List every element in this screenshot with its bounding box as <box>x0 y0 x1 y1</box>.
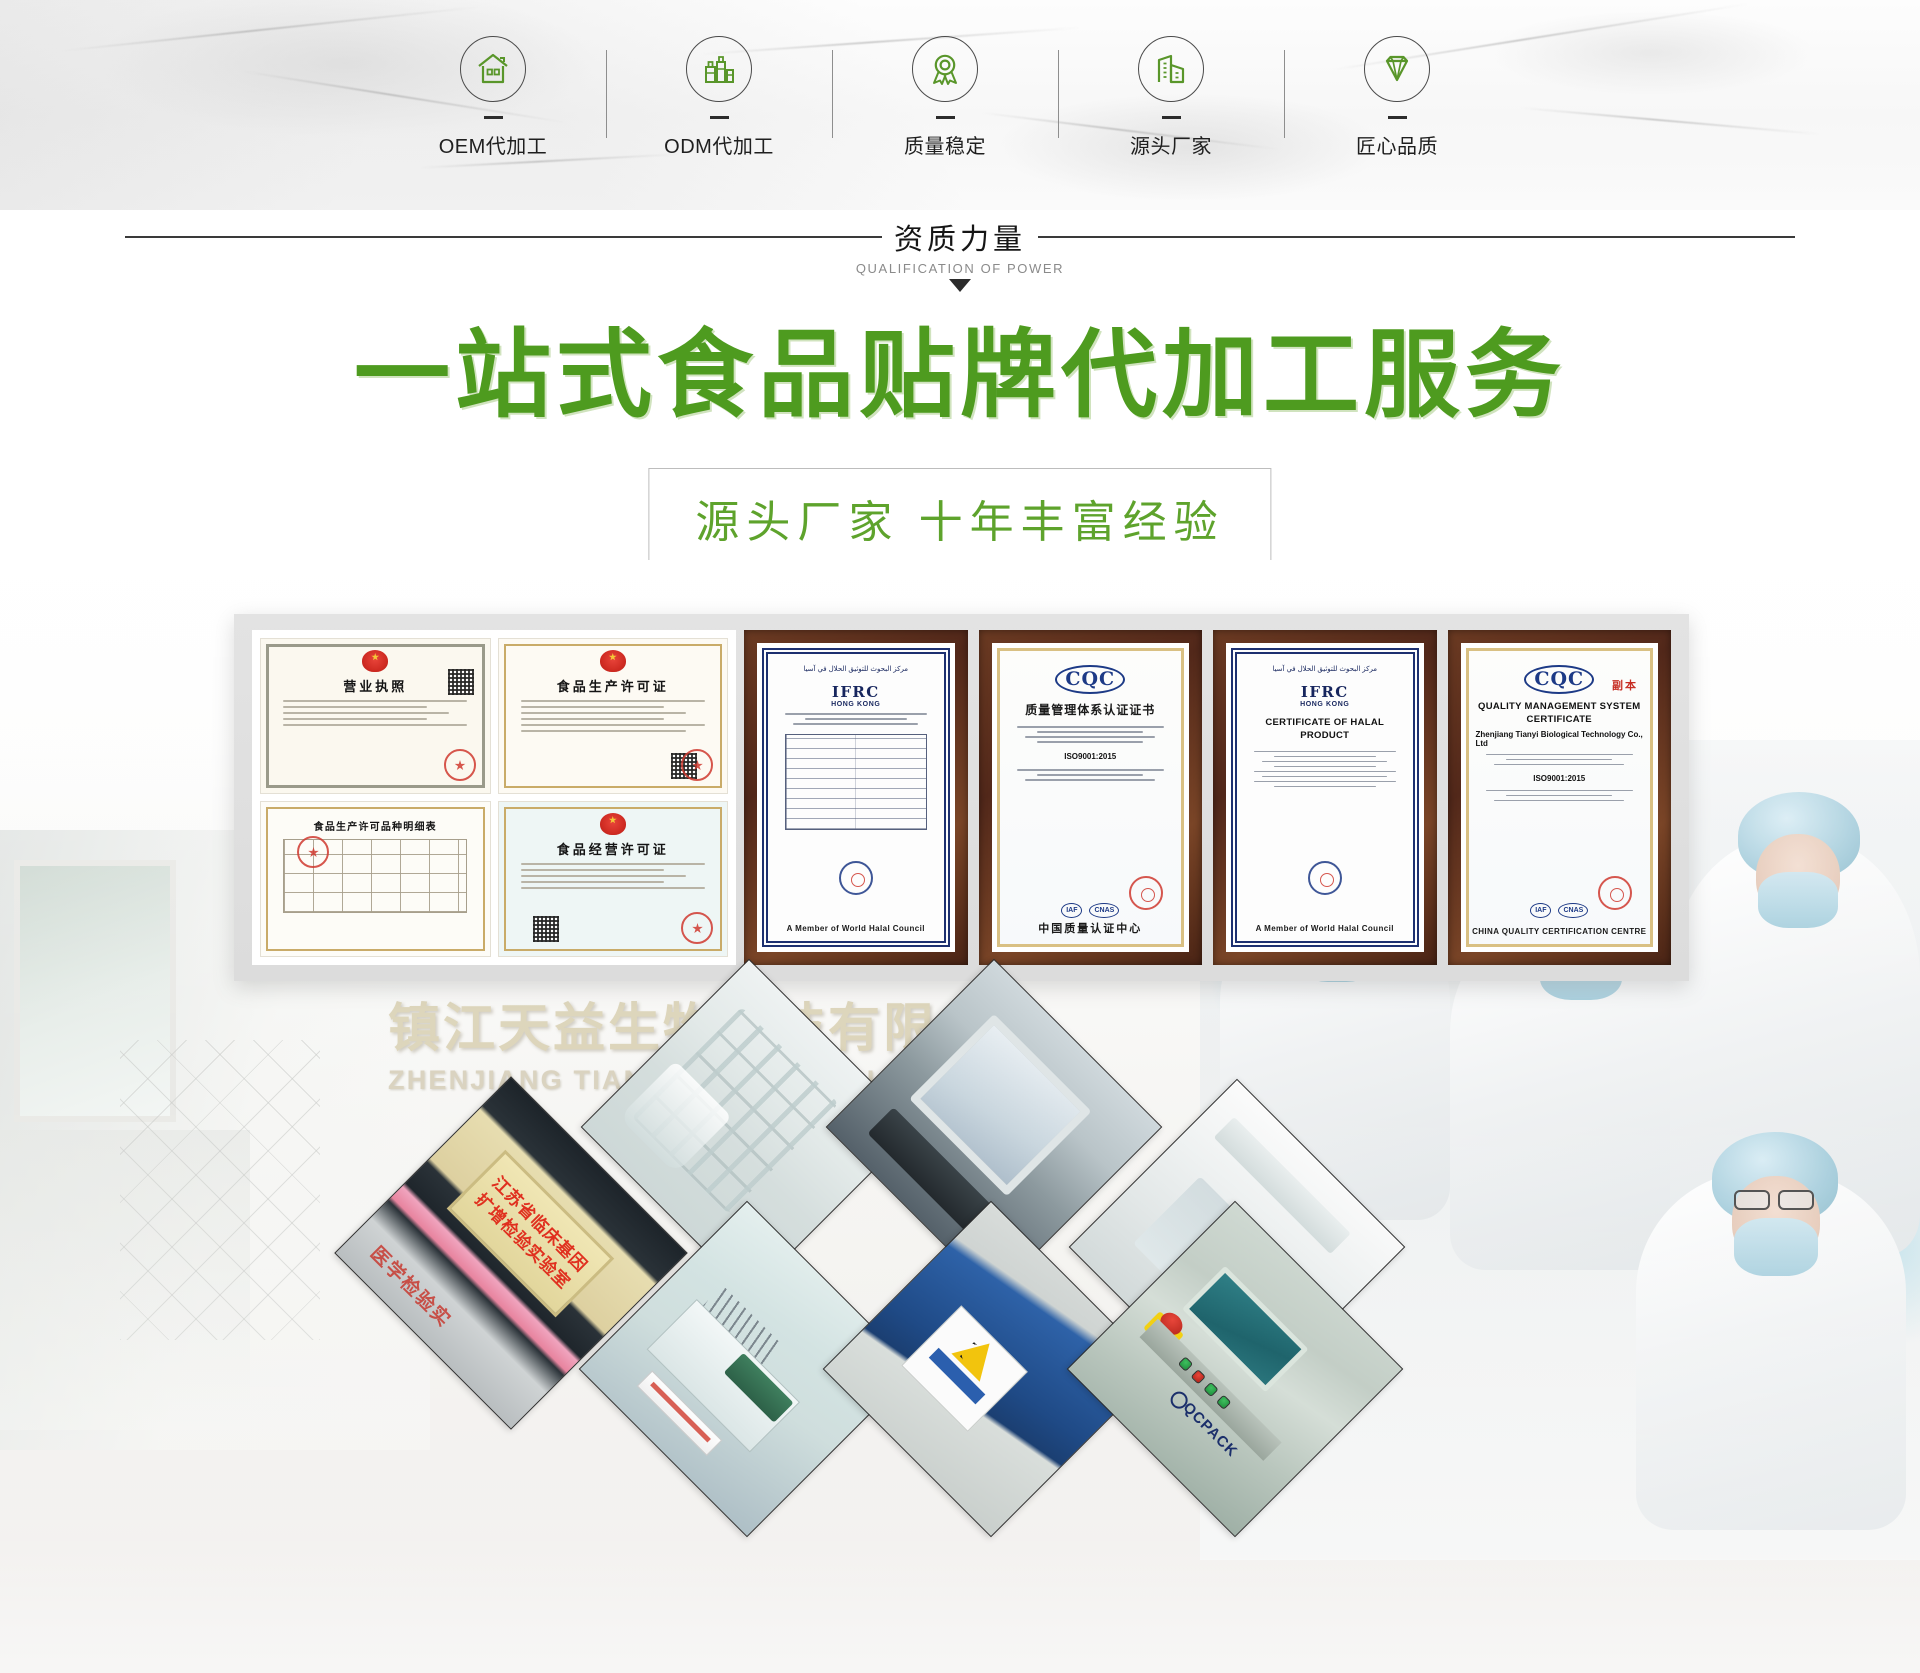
red-seal-stamp <box>681 749 713 781</box>
cqc-logo: CQC <box>1524 665 1594 694</box>
feature-icon-circle <box>1364 36 1430 102</box>
certificate-banner: 营业执照 食品生产许可证 <box>234 614 1689 981</box>
certificate-text-lines-2 <box>1486 790 1633 805</box>
machine-button <box>1203 1382 1219 1398</box>
feature-item-oem[interactable]: OEM代加工 <box>380 36 606 159</box>
certificate-paper: مركز البحوث للتوثيق الحلال في آسيا IFRC … <box>762 648 950 947</box>
feature-item-factory[interactable]: 源头厂家 <box>1058 36 1284 159</box>
framed-certificate-ifrc-halal-product[interactable]: مركز البحوث للتوثيق الحلال في آسيا IFRC … <box>1213 630 1437 965</box>
feature-icon-circle <box>460 36 526 102</box>
qr-code-icon <box>533 916 559 942</box>
feature-divider-dash <box>1162 116 1181 119</box>
ifrc-logo-sub: HONG KONG <box>831 701 880 708</box>
certificate-paper: CQC 质量管理体系认证证书 ISO9001:2015 IAF CNAS <box>997 648 1185 947</box>
certificate-paper: مركز البحوث للتوثيق الحلال في آسيا IFRC … <box>1231 648 1419 947</box>
section-title-en: QUALIFICATION OF POWER <box>856 261 1064 276</box>
feature-highlights: OEM代加工 ODM代加工 <box>380 36 1510 176</box>
arabic-heading: مركز البحوث للتوثيق الحلال في آسيا <box>803 665 908 673</box>
certificate-footer: 中国质量认证中心 <box>1000 920 1182 936</box>
arabic-heading: مركز البحوث للتوثيق الحلال في آسيا <box>1272 665 1377 673</box>
red-seal-stamp <box>444 749 476 781</box>
certificate-footer: A Member of World Halal Council <box>1237 924 1413 933</box>
feature-item-quality[interactable]: 质量稳定 <box>832 36 1058 159</box>
framed-certificate-cqc-cn[interactable]: CQC 质量管理体系认证证书 ISO9001:2015 IAF CNAS <box>979 630 1203 965</box>
feature-icon-circle <box>686 36 752 102</box>
feature-divider-dash <box>484 116 503 119</box>
red-seal-stamp <box>1598 876 1632 910</box>
frame-mat: مركز البحوث للتوثيق الحلال في آسيا IFRC … <box>1226 643 1424 952</box>
document-text-lines <box>283 700 467 730</box>
paper-certificates-group: 营业执照 食品生产许可证 <box>252 630 736 965</box>
red-seal-stamp <box>297 836 329 868</box>
blue-seal-stamp <box>1308 861 1342 895</box>
photo-mosaic: 江苏省临床基因 扩增检验实验室 医学检验实 <box>0 1000 1920 1673</box>
national-emblem-icon <box>600 810 626 836</box>
machine-button <box>1178 1357 1194 1373</box>
framed-certificates-group: مركز البحوث للتوثيق الحلال في آسيا IFRC … <box>744 630 1671 965</box>
feature-icon-circle <box>912 36 978 102</box>
document-title: 食品生产许可品种明细表 <box>314 818 437 833</box>
factory-building-icon <box>1153 51 1189 87</box>
copy-label-cn: 副本 <box>1612 677 1638 693</box>
award-ribbon-icon <box>927 51 963 87</box>
certificate-text-lines-2 <box>1017 769 1164 784</box>
certificate-title-en: CERTIFICATE OF HALAL PRODUCT <box>1244 717 1406 743</box>
product-name-table <box>785 734 927 830</box>
heading-rule-right <box>1038 236 1795 238</box>
certificate-production-category-table[interactable]: 食品生产许可品种明细表 <box>260 801 491 957</box>
machine-button <box>1216 1395 1232 1411</box>
document-text-lines <box>521 863 705 893</box>
feature-divider-dash <box>1388 116 1407 119</box>
feature-label: ODM代加工 <box>664 130 774 159</box>
section-heading-row: 资质力量 <box>0 216 1920 258</box>
feature-icon-circle <box>1138 36 1204 102</box>
certificate-food-production-license[interactable]: 食品生产许可证 <box>498 638 729 794</box>
red-seal-stamp <box>681 912 713 944</box>
national-emblem-icon <box>362 647 388 673</box>
certificate-title-en: QUALITY MANAGEMENT SYSTEM CERTIFICATE <box>1476 701 1644 727</box>
certificate-standard: ISO9001:2015 <box>1064 752 1116 761</box>
document-title: 食品生产许可证 <box>557 676 669 695</box>
certificate-text-lines <box>1486 754 1633 769</box>
national-emblem-icon <box>600 647 626 673</box>
red-seal-stamp <box>1129 876 1163 910</box>
caret-down-icon <box>949 279 971 292</box>
framed-certificate-cqc-en[interactable]: 副本 CQC QUALITY MANAGEMENT SYSTEM CERTIFI… <box>1448 630 1672 965</box>
certificate-title-cn: 质量管理体系认证证书 <box>1025 701 1155 718</box>
frame-mat: 副本 CQC QUALITY MANAGEMENT SYSTEM CERTIFI… <box>1461 643 1659 952</box>
hero-headline: 一站式食品贴牌代加工服务 <box>0 324 1920 428</box>
certificate-standard: ISO9001:2015 <box>1533 774 1585 783</box>
diamond-icon <box>1379 51 1415 87</box>
certificate-food-operation-license[interactable]: 食品经营许可证 <box>498 801 729 957</box>
cqc-logo: CQC <box>1055 665 1125 694</box>
heading-rule-left <box>125 236 882 238</box>
certificate-text-lines <box>1254 751 1396 791</box>
page-root: OEM代加工 ODM代加工 <box>0 0 1920 1673</box>
warning-sign <box>901 1306 1028 1433</box>
hero-subtitle: 源头厂家 十年丰富经验 <box>695 486 1224 550</box>
iaf-logo: IAF <box>1530 903 1551 918</box>
feature-label: 匠心品质 <box>1356 130 1438 159</box>
qr-code-icon <box>448 669 474 695</box>
document-text-lines <box>521 700 705 736</box>
feature-item-craftsmanship[interactable]: 匠心品质 <box>1284 36 1510 159</box>
certificate-footer: A Member of World Halal Council <box>768 924 944 933</box>
certificate-paper: 副本 CQC QUALITY MANAGEMENT SYSTEM CERTIFI… <box>1466 648 1654 947</box>
feature-divider-dash <box>710 116 729 119</box>
document-title: 营业执照 <box>343 676 407 695</box>
section-title-cn: 资质力量 <box>882 216 1038 258</box>
certificate-business-license[interactable]: 营业执照 <box>260 638 491 794</box>
cnas-logo: CNAS <box>1558 903 1588 918</box>
plaque-text-card: 江苏省临床基因 扩增检验实验室 <box>447 1150 615 1318</box>
iaf-logo: IAF <box>1061 903 1082 918</box>
ifrc-logo-sub: HONG KONG <box>1300 701 1349 708</box>
feature-label: 质量稳定 <box>904 130 986 159</box>
certificate-text-lines <box>1017 726 1164 746</box>
machine-button <box>1190 1369 1206 1385</box>
ifrc-logo: IFRC <box>1301 683 1349 701</box>
feature-item-odm[interactable]: ODM代加工 <box>606 36 832 159</box>
frame-mat: مركز البحوث للتوثيق الحلال في آسيا IFRC … <box>757 643 955 952</box>
framed-certificate-ifrc-halal[interactable]: مركز البحوث للتوثيق الحلال في آسيا IFRC … <box>744 630 968 965</box>
blue-seal-stamp <box>839 861 873 895</box>
feature-label: 源头厂家 <box>1130 130 1212 159</box>
document-title: 食品经营许可证 <box>557 839 669 858</box>
cnas-logo: CNAS <box>1089 903 1119 918</box>
house-icon <box>475 51 511 87</box>
hero-subtitle-box: 源头厂家 十年丰富经验 <box>648 468 1271 570</box>
certificate-footer: CHINA QUALITY CERTIFICATION CENTRE <box>1469 927 1651 936</box>
bottles-icon <box>701 51 737 87</box>
frame-mat: CQC 质量管理体系认证证书 ISO9001:2015 IAF CNAS <box>992 643 1190 952</box>
section-heading: 资质力量 QUALIFICATION OF POWER <box>0 216 1920 292</box>
certificate-text-lines <box>785 713 927 728</box>
feature-divider-dash <box>936 116 955 119</box>
certificate-company: Zhenjiang Tianyi Biological Technology C… <box>1476 730 1644 748</box>
plaque-lower-text: 医学检验实 <box>365 1239 458 1332</box>
feature-label: OEM代加工 <box>439 130 548 159</box>
ifrc-logo: IFRC <box>832 683 880 701</box>
